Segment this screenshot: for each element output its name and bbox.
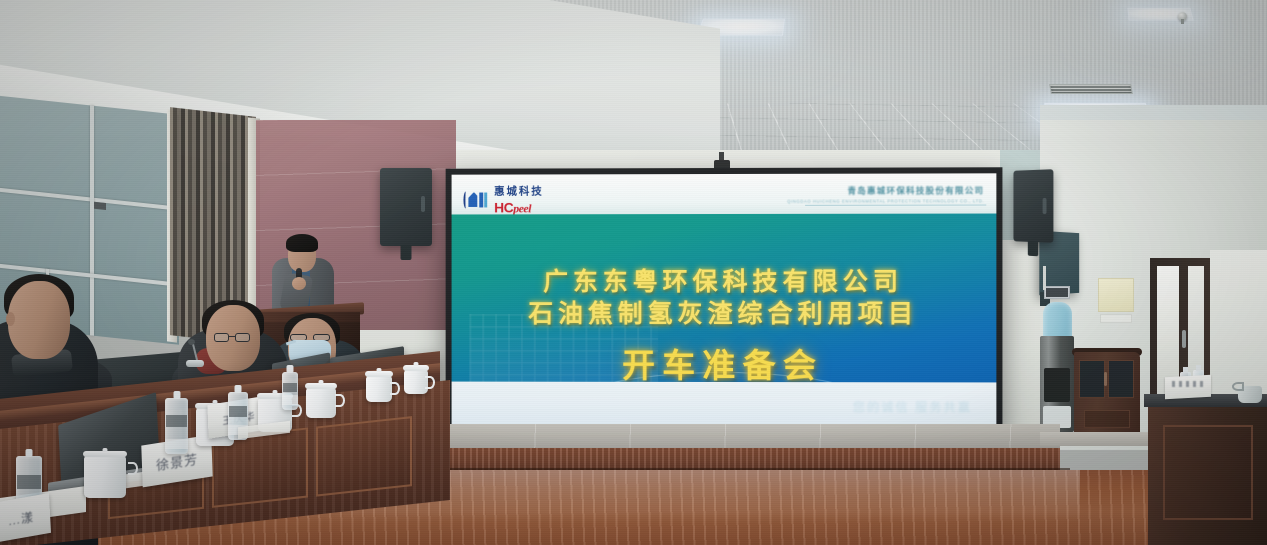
water-bottle <box>282 372 298 410</box>
company-logo-icon <box>463 191 489 208</box>
door-handle[interactable] <box>1182 330 1186 348</box>
right-wall-speaker <box>1013 169 1053 243</box>
wall-notice-subplate <box>1100 314 1132 323</box>
tea-mug <box>404 370 428 394</box>
ac-control-panel-display <box>1046 288 1068 297</box>
logo-latin-name: HC <box>494 199 513 215</box>
presenter-hair <box>286 234 318 252</box>
water-dispenser-tap-panel[interactable] <box>1044 368 1070 402</box>
stage-step <box>1040 432 1160 446</box>
left-wall-speaker <box>380 168 432 246</box>
slide-body: 广东东粤环保科技有限公司 石油焦制氢灰渣综合利用项目 开车准备会 <box>452 214 997 395</box>
slide-title-line1: 广东东粤环保科技有限公司 <box>452 262 997 298</box>
company-logo: 惠城科技 HCpeel <box>463 181 543 217</box>
stage-platform-seams <box>440 424 1060 450</box>
side-podium-panel <box>1163 425 1253 520</box>
slide-slogan: 您的诚信 服务共赢 <box>853 398 972 415</box>
thermos-kettle-handle <box>1232 382 1244 391</box>
tea-mug <box>366 376 392 402</box>
conference-room-photo: 惠城科技 HCpeel 青岛惠城环保科技股份有限公司 QINGDAO HUICH… <box>0 0 1267 545</box>
logo-chinese-name: 惠城科技 <box>494 186 544 197</box>
projection-screen: 惠城科技 HCpeel 青岛惠城环保科技股份有限公司 QINGDAO HUICH… <box>446 167 1003 433</box>
ceiling-air-vent <box>1049 84 1133 94</box>
attendee-2-glasses <box>214 333 256 343</box>
presenter-hand <box>292 277 306 290</box>
logo-latin-script: peel <box>513 201 531 215</box>
company-name-en: QINGDAO HUICHENG ENVIRONMENTAL PROTECTIO… <box>787 198 984 203</box>
slide-main-title: 开车准备会 <box>452 339 997 388</box>
water-bottle <box>165 398 188 454</box>
header-underline <box>805 204 986 205</box>
wooden-cabinet[interactable] <box>1074 352 1140 436</box>
attendee-1-head <box>8 281 70 359</box>
tea-mug <box>306 388 336 418</box>
slide-title-line2: 石油焦制氢灰渣综合利用项目 <box>452 294 997 330</box>
name-placard-text: …漾 <box>8 507 35 528</box>
slide-content: 惠城科技 HCpeel 青岛惠城环保科技股份有限公司 QINGDAO HUICH… <box>452 173 997 427</box>
podium-name-card-text <box>1172 381 1206 387</box>
tea-mug <box>84 456 126 498</box>
slide-header-company: 青岛惠城环保科技股份有限公司 QINGDAO HUICHENG ENVIRONM… <box>787 184 984 203</box>
wall-conduit <box>1043 266 1046 290</box>
sprinkler-head-icon <box>1178 12 1187 21</box>
attendee-1-ear <box>6 312 15 326</box>
wall-notice-poster <box>1098 278 1134 312</box>
slide-header-bar: 惠城科技 HCpeel 青岛惠城环保科技股份有限公司 QINGDAO HUICH… <box>452 173 997 214</box>
company-name-cn: 青岛惠城环保科技股份有限公司 <box>787 184 984 196</box>
podium-name-card <box>1165 375 1211 399</box>
slide-footer-bar: 您的诚信 服务共赢 <box>452 382 997 428</box>
